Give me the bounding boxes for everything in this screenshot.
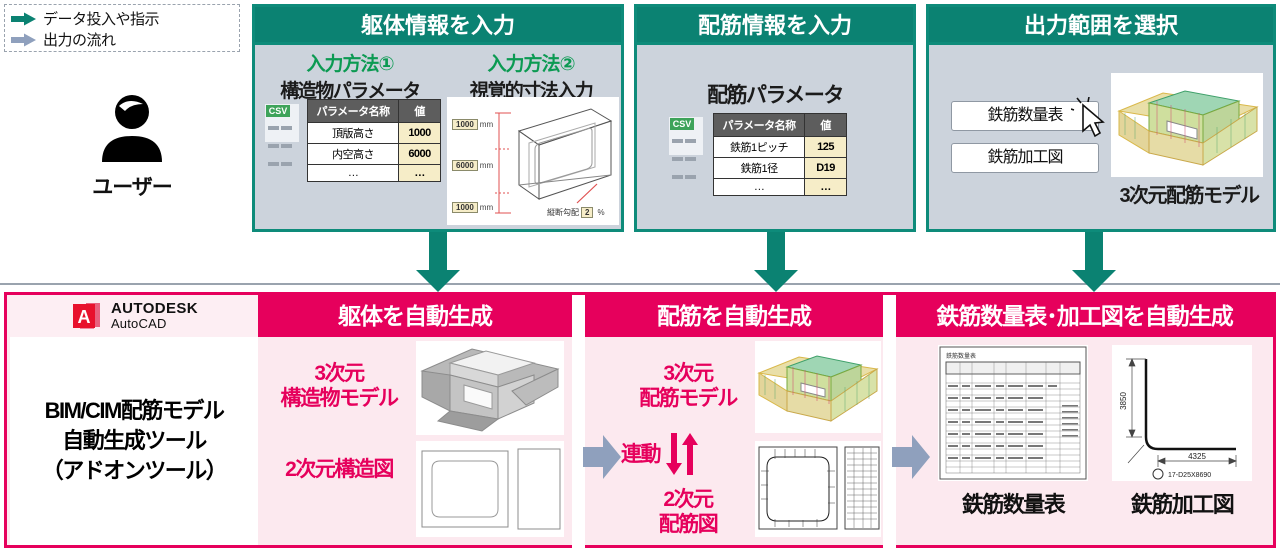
autodesk-brand-header: A AUTODESK AutoCAD bbox=[10, 295, 258, 337]
rebar-3d-model-preview-bottom bbox=[755, 341, 881, 433]
cell-value: 6000 bbox=[399, 144, 441, 165]
dimension-unit-top: mm bbox=[480, 120, 493, 129]
column-3-body: 鉄筋数量表 bbox=[896, 337, 1273, 545]
flow-arrow-panel2-to-rebar bbox=[752, 232, 800, 294]
rebar-quantity-table-icon: 鉄筋数量表 bbox=[938, 345, 1088, 481]
panel-3-title: 出力範囲を選択 bbox=[929, 7, 1273, 45]
up-down-arrows-icon bbox=[663, 433, 699, 477]
gray-flow-arrow-icon bbox=[583, 433, 623, 483]
col-header-name: パラメータ名称 bbox=[714, 114, 805, 137]
bottom-tool-section: A AUTODESK AutoCAD 躯体を自動生成 配筋を自動生成 鉄筋数量表… bbox=[4, 292, 1276, 548]
fab-bar-mark-text: 17-D25X8690 bbox=[1168, 472, 1211, 479]
option-button-rebar-fab-drawing[interactable]: 鉄筋加工図 bbox=[951, 143, 1099, 173]
dimension-field-mid[interactable]: 6000mm bbox=[452, 155, 493, 173]
diagram-root: データ投入や指示 出力の流れ ユーザー 躯体情報を入力 入力方法① 構造物パラメ… bbox=[0, 0, 1280, 552]
flow-arrow-body-to-rebar bbox=[298, 400, 338, 450]
method-1-badge: 入力方法① bbox=[259, 49, 441, 76]
fab-dim-horizontal-text: 4325 bbox=[1188, 452, 1206, 461]
autodesk-a-logo-icon: A bbox=[70, 301, 104, 331]
link-indicator: 連動 bbox=[621, 433, 699, 477]
panel-rebar-input: 配筋情報を入力 配筋パラメータ CSV パラメータ名称 値 鉄筋1ピッチ 125 bbox=[634, 4, 916, 232]
user-person-icon bbox=[89, 92, 175, 164]
panel-1-body: 入力方法① 構造物パラメータ 入力方法② 視覚的寸法入力 CSV パラメータ名称… bbox=[255, 45, 621, 229]
structure-2d-drawing-preview bbox=[416, 441, 564, 537]
panel-1-title: 躯体情報を入力 bbox=[255, 7, 621, 45]
csv-file-icon: CSV bbox=[669, 117, 703, 155]
table-row: … … bbox=[308, 165, 441, 182]
rebar-3d-model-icon bbox=[1111, 73, 1263, 177]
teal-right-arrow-icon bbox=[11, 12, 37, 26]
quantity-table-title-text: 鉄筋数量表 bbox=[946, 352, 976, 360]
label-2d-rebar-drawing: 2次元 配筋図 bbox=[623, 487, 753, 537]
visual-dimension-card: 1000mm 6000mm 1000mm bbox=[447, 97, 619, 225]
dimension-value-mid[interactable]: 6000 bbox=[452, 160, 478, 171]
table-header-row: パラメータ名称 値 bbox=[714, 114, 847, 137]
cell-name: … bbox=[308, 165, 399, 182]
panel-body-input: 躯体情報を入力 入力方法① 構造物パラメータ 入力方法② 視覚的寸法入力 CSV bbox=[252, 4, 624, 232]
panel-2-body: 配筋パラメータ CSV パラメータ名称 値 鉄筋1ピッチ 125 鉄筋1径 bbox=[637, 45, 913, 229]
method-1-heading: 入力方法① 構造物パラメータ bbox=[259, 49, 441, 103]
table-header-row: パラメータ名称 値 bbox=[308, 100, 441, 123]
col-header-value: 値 bbox=[805, 114, 847, 137]
rebar-fab-drawing-icon: 3850 4325 17-D25X8690 bbox=[1112, 345, 1252, 481]
slope-input-group[interactable]: 縦断勾配 2 % bbox=[547, 207, 605, 218]
column-3-title: 鉄筋数量表･加工図を自動生成 bbox=[896, 295, 1273, 337]
panel-3-body: 鉄筋数量表 鉄筋加工図 bbox=[929, 45, 1273, 229]
table-row: 鉄筋1径 D19 bbox=[714, 158, 847, 179]
legend-box: データ投入や指示 出力の流れ bbox=[4, 4, 240, 52]
table-row: … … bbox=[714, 179, 847, 196]
cell-name: 鉄筋1径 bbox=[714, 158, 805, 179]
label-2d-structure-drawing: 2次元構造図 bbox=[264, 457, 414, 482]
csv-badge-label: CSV bbox=[670, 118, 694, 130]
structure-param-table: パラメータ名称 値 頂版高さ 1000 内空高さ 6000 … … bbox=[307, 99, 441, 182]
table-row: 頂版高さ 1000 bbox=[308, 123, 441, 144]
csv-file-icon: CSV bbox=[265, 104, 299, 142]
csv-lines-decor bbox=[672, 133, 698, 187]
rebar-3d-model-preview bbox=[1111, 73, 1263, 177]
csv-lines-decor bbox=[268, 120, 294, 174]
column-1-title: 躯体を自動生成 bbox=[258, 295, 572, 337]
legend-label-output: 出力の流れ bbox=[43, 29, 116, 50]
cell-name: 鉄筋1ピッチ bbox=[714, 137, 805, 158]
brand-line-autodesk: AUTODESK bbox=[111, 301, 198, 317]
col-header-value: 値 bbox=[399, 100, 441, 123]
actor-user: ユーザー bbox=[62, 92, 202, 201]
structure-3d-model-preview bbox=[416, 341, 564, 435]
dimension-value-top[interactable]: 1000 bbox=[452, 119, 478, 130]
rebar-2d-drawing-preview bbox=[755, 441, 881, 537]
slope-unit: % bbox=[597, 208, 604, 217]
dimension-leader-icon bbox=[495, 111, 513, 215]
cell-name: 頂版高さ bbox=[308, 123, 399, 144]
preview-caption-3d-model: 3次元配筋モデル bbox=[1111, 179, 1267, 208]
autodesk-brand-text: AUTODESK AutoCAD bbox=[111, 301, 198, 330]
caption-rebar-fab-drawing: 鉄筋加工図 bbox=[1112, 487, 1252, 519]
rebar-3d-model-icon bbox=[755, 341, 881, 433]
structure-2d-drawing-icon bbox=[416, 441, 564, 537]
structure-3d-model-icon bbox=[416, 341, 564, 435]
link-label-rendou: 連動 bbox=[621, 442, 660, 467]
brand-line-autocad: AutoCAD bbox=[111, 317, 198, 331]
column-gap-1 bbox=[572, 295, 585, 548]
panel-output-range: 出力範囲を選択 鉄筋数量表 鉄筋加工図 bbox=[926, 4, 1276, 232]
legend-item-input: データ投入や指示 bbox=[11, 8, 233, 29]
rebar-param-table: パラメータ名称 値 鉄筋1ピッチ 125 鉄筋1径 D19 … … bbox=[713, 113, 847, 196]
legend-label-input: データ投入や指示 bbox=[43, 8, 159, 29]
cell-value: … bbox=[805, 179, 847, 196]
tool-name-text: BIM/CIM配筋モデル 自動生成ツール （アドオンツール） bbox=[42, 396, 227, 485]
column-2-body: 3次元 配筋モデル 連動 2次元 配筋図 bbox=[585, 337, 883, 545]
caption-rebar-quantity-table: 鉄筋数量表 bbox=[938, 487, 1088, 519]
rebar-2d-drawing-icon bbox=[755, 441, 881, 537]
svg-text:A: A bbox=[77, 307, 90, 327]
dimension-field-bottom[interactable]: 1000mm bbox=[452, 197, 493, 215]
panel-2-subtitle: 配筋パラメータ bbox=[637, 79, 913, 109]
flow-arrow-panel3-to-output bbox=[1070, 232, 1118, 294]
table-row: 内空高さ 6000 bbox=[308, 144, 441, 165]
table-row: 鉄筋1ピッチ 125 bbox=[714, 137, 847, 158]
mouse-cursor-icon bbox=[1071, 97, 1111, 141]
cell-name: … bbox=[714, 179, 805, 196]
column-gap-2 bbox=[883, 295, 896, 548]
cell-value: 1000 bbox=[399, 123, 441, 144]
rebar-fab-drawing-preview: 3850 4325 17-D25X8690 bbox=[1112, 345, 1252, 481]
legend-item-output: 出力の流れ bbox=[11, 29, 233, 50]
dimension-value-bottom[interactable]: 1000 bbox=[452, 202, 478, 213]
csv-badge-label: CSV bbox=[266, 105, 290, 117]
box-culvert-wireframe-icon bbox=[513, 103, 617, 207]
gray-flow-arrow-icon bbox=[892, 433, 932, 483]
col-header-name: パラメータ名称 bbox=[308, 100, 399, 123]
dimension-unit-bottom: mm bbox=[480, 203, 493, 212]
flow-arrow-panel1-to-body bbox=[414, 232, 462, 294]
fab-dim-vertical-text: 3850 bbox=[1119, 392, 1128, 410]
cell-value: 125 bbox=[805, 137, 847, 158]
method-2-heading: 入力方法② 視覚的寸法入力 bbox=[443, 49, 619, 103]
cell-value: D19 bbox=[805, 158, 847, 179]
label-3d-rebar-model: 3次元 配筋モデル bbox=[623, 361, 753, 411]
gray-right-arrow-icon bbox=[11, 33, 37, 47]
slope-pointer-icon bbox=[575, 183, 601, 205]
method-2-badge: 入力方法② bbox=[443, 49, 619, 76]
label-3d-structure-model: 3次元 構造物モデル bbox=[264, 361, 414, 411]
rebar-quantity-table-preview: 鉄筋数量表 bbox=[938, 345, 1088, 481]
cell-value: … bbox=[399, 165, 441, 182]
actor-user-label: ユーザー bbox=[62, 171, 202, 201]
slope-label: 縦断勾配 bbox=[547, 207, 579, 218]
dimension-unit-mid: mm bbox=[480, 161, 493, 170]
column-2-title: 配筋を自動生成 bbox=[585, 295, 883, 337]
slope-value[interactable]: 2 bbox=[581, 207, 593, 218]
panel-2-title: 配筋情報を入力 bbox=[637, 7, 913, 45]
dimension-field-top[interactable]: 1000mm bbox=[452, 114, 493, 132]
tool-name-block: BIM/CIM配筋モデル 自動生成ツール （アドオンツール） bbox=[10, 337, 258, 545]
cell-name: 内空高さ bbox=[308, 144, 399, 165]
